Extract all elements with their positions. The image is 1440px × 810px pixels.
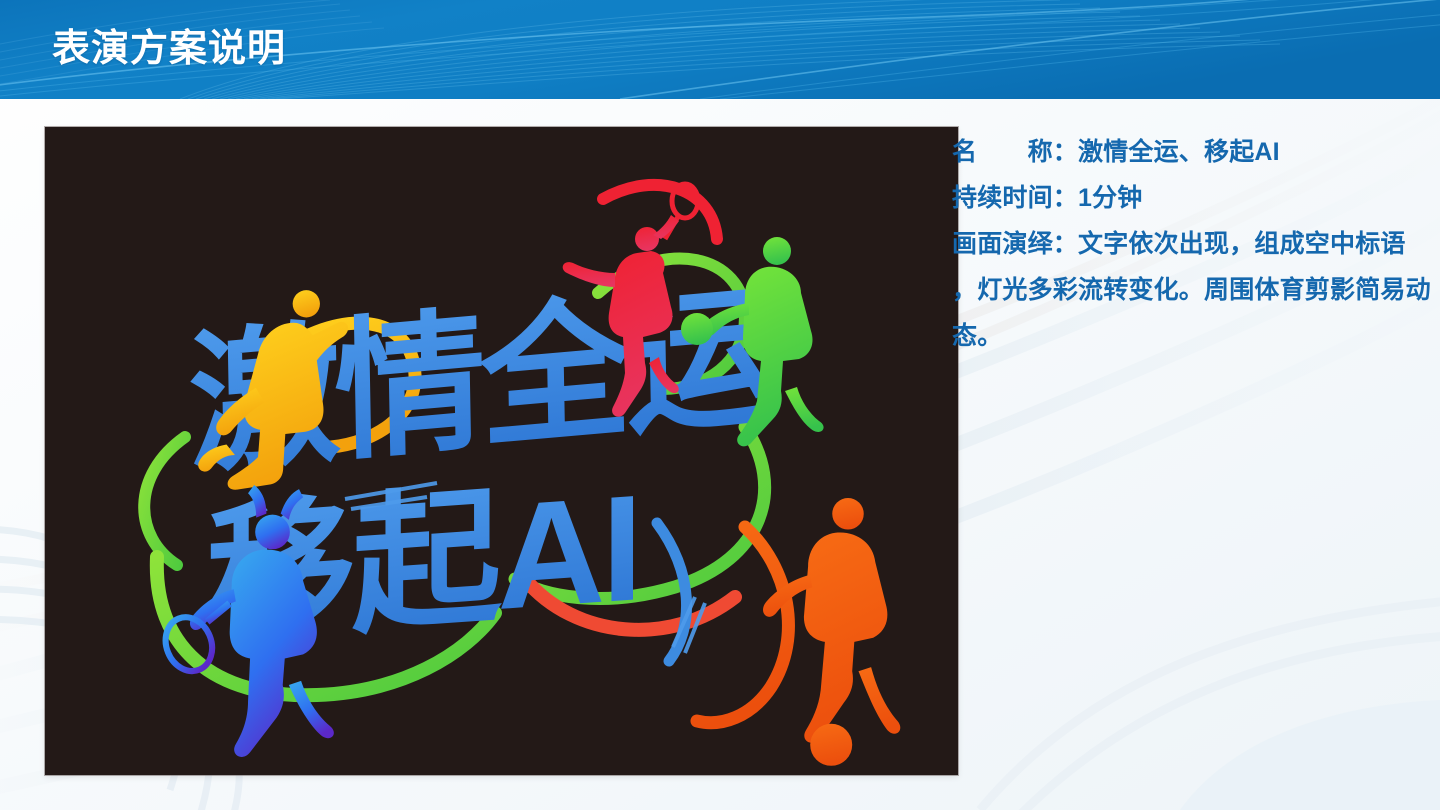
page-header: 表演方案说明 [0,0,1440,99]
content-area: 激情全运 移起AI [0,99,1440,810]
page-title: 表演方案说明 [52,27,286,71]
poster-image: 激情全运 移起AI [45,127,958,775]
poster-artwork: 激情全运 移起AI [45,127,958,775]
description-line-name: 名 称：激情全运、移起AI [952,129,1432,175]
description-line-duration: 持续时间：1分钟 [952,175,1432,221]
description-panel: 名 称：激情全运、移起AI 持续时间：1分钟 画面演绎：文字依次出现，组成空中标… [952,129,1432,359]
description-line-scene: 画面演绎：文字依次出现，组成空中标语 ，灯光多彩流转变化。周围体育剪影简易动态。 [952,221,1432,359]
